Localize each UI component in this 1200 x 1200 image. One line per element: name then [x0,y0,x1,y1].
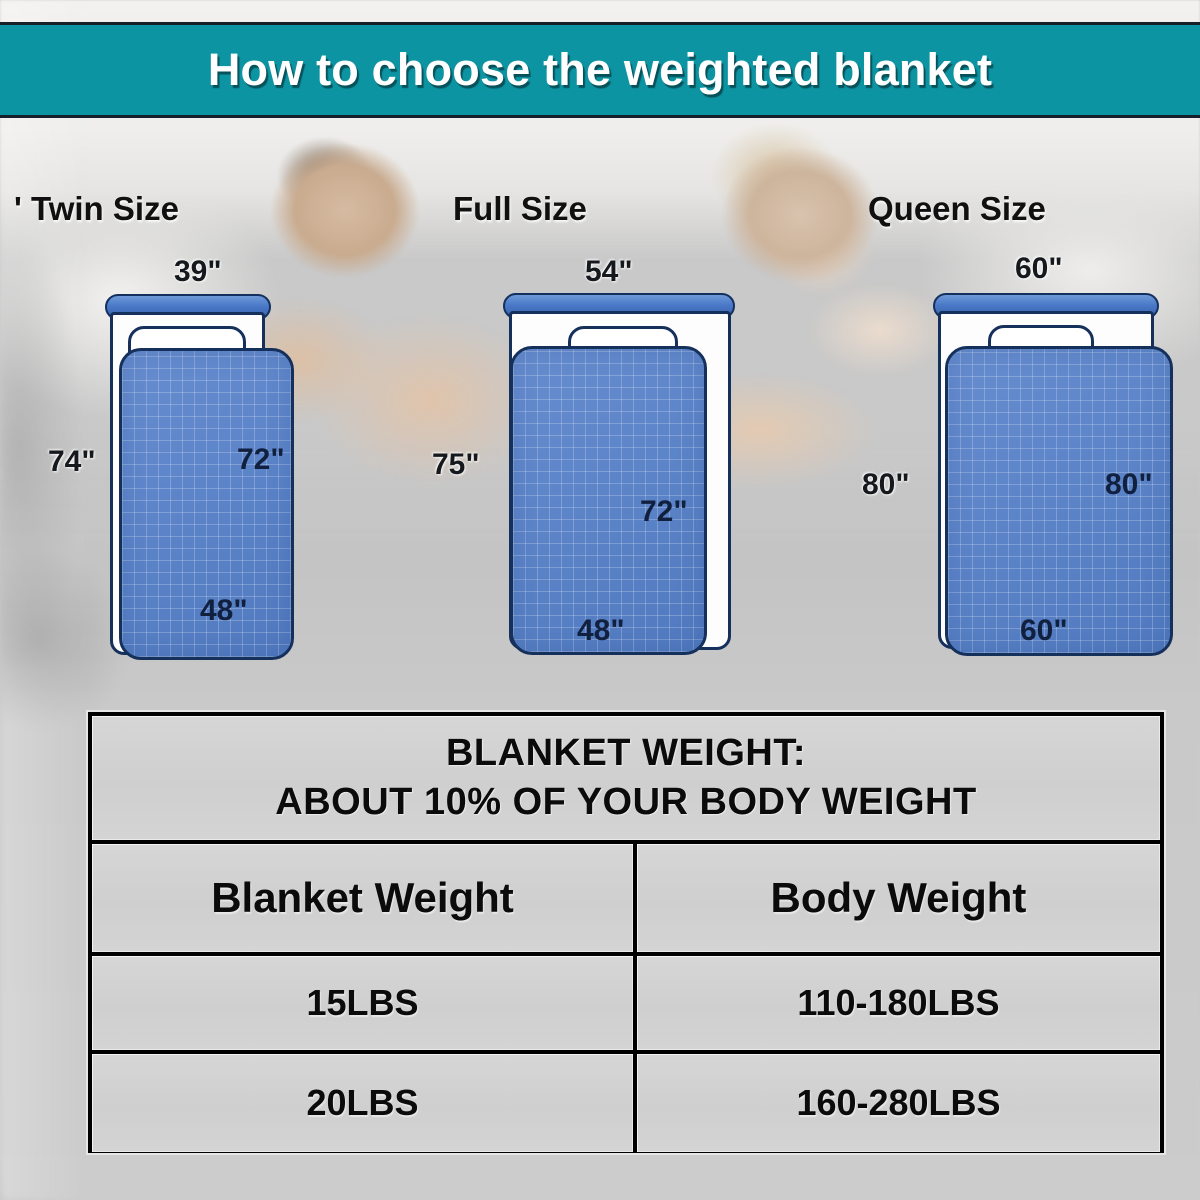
table-heading-cell: BLANKET WEIGHT: ABOUT 10% OF YOUR BODY W… [92,716,1160,840]
column-header-blanket-weight-label: Blanket Weight [211,874,514,922]
cell-body-weight-2-value: 160-280LBS [796,1082,1000,1124]
cell-body-weight-1: 110-180LBS [637,956,1160,1050]
page-title: How to choose the weighted blanket [208,44,992,96]
table-heading-row: BLANKET WEIGHT: ABOUT 10% OF YOUR BODY W… [92,716,1160,844]
queen-blanket-width-dim: 60" [1020,614,1068,648]
full-size-label: Full Size [453,190,587,228]
cell-body-weight-2: 160-280LBS [637,1054,1160,1152]
blanket-weight-table: BLANKET WEIGHT: ABOUT 10% OF YOUR BODY W… [88,712,1164,1153]
title-banner: How to choose the weighted blanket [0,22,1200,118]
bed-diagram-full: Full Size 54" 75" 72" 48" [420,190,760,680]
twin-size-label: ' Twin Size [14,190,179,228]
infographic-page: How to choose the weighted blanket ' Twi… [0,0,1200,1200]
bed-diagram-twin: ' Twin Size 39" 74" 72" 48" [0,190,330,680]
queen-size-label: Queen Size [868,190,1046,228]
table-column-header-row: Blanket Weight Body Weight [92,844,1160,956]
bed-diagram-queen: Queen Size 60" 80" 80" 60" [840,190,1200,680]
cell-blanket-weight-1-value: 15LBS [306,982,418,1024]
table-row: 20LBS 160-280LBS [92,1054,1160,1152]
twin-blanket-length-dim: 72" [237,443,285,477]
column-header-body-weight: Body Weight [637,844,1160,952]
column-header-body-weight-label: Body Weight [771,874,1027,922]
queen-blanket-length-dim: 80" [1105,468,1153,502]
table-row: 15LBS 110-180LBS [92,956,1160,1054]
twin-bed-length-dim: 74" [48,445,96,479]
cell-blanket-weight-1: 15LBS [92,956,637,1050]
column-header-blanket-weight: Blanket Weight [92,844,637,952]
table-heading-line2: ABOUT 10% OF YOUR BODY WEIGHT [275,781,976,824]
full-blanket-length-dim: 72" [640,495,688,529]
cell-blanket-weight-2: 20LBS [92,1054,637,1152]
table-heading-line1: BLANKET WEIGHT: [446,732,806,775]
queen-bed-length-dim: 80" [862,468,910,502]
full-bed-width-dim: 54" [585,255,633,289]
cell-blanket-weight-2-value: 20LBS [306,1082,418,1124]
cell-body-weight-1-value: 110-180LBS [797,982,999,1024]
twin-blanket-width-dim: 48" [200,594,248,628]
queen-bed-width-dim: 60" [1015,252,1063,286]
twin-bed-width-dim: 39" [174,255,222,289]
full-bed-length-dim: 75" [432,448,480,482]
full-blanket-width-dim: 48" [577,614,625,648]
